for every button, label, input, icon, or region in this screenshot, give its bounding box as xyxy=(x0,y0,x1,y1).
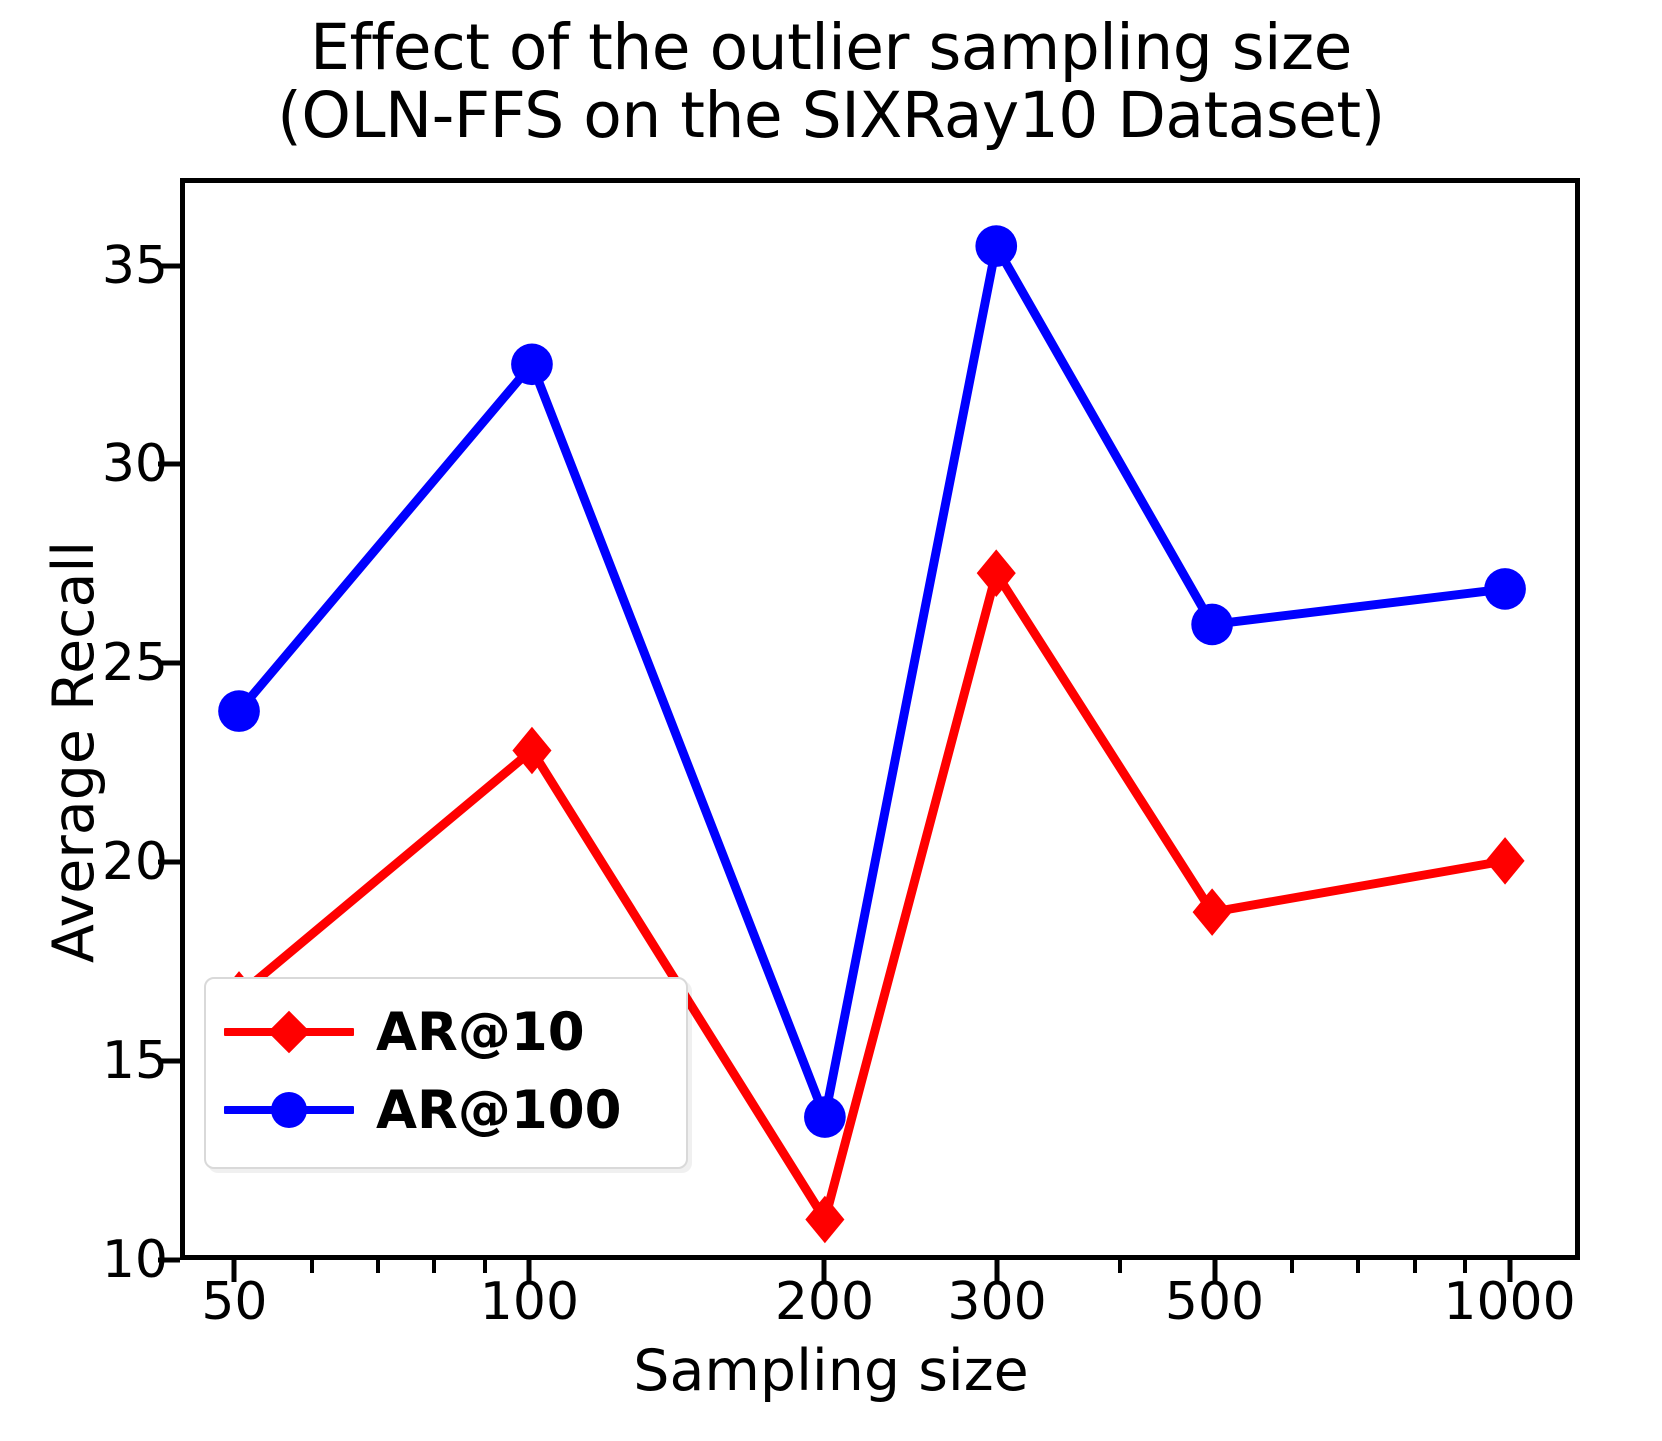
x-axis-minor-tick-mark xyxy=(376,1260,380,1273)
y-axis-tick-mark xyxy=(158,860,180,865)
y-axis-tick-mark xyxy=(158,462,180,467)
legend-item-ar100[interactable]: AR@100 xyxy=(224,1071,668,1149)
x-axis-minor-tick-mark xyxy=(310,1260,314,1273)
data-point-diamond xyxy=(1486,837,1525,885)
y-axis-tick-mark xyxy=(158,1258,180,1263)
y-axis-tick-mark xyxy=(158,661,180,666)
x-axis-tick-mark xyxy=(232,1260,237,1282)
data-point-circle xyxy=(1191,604,1233,646)
circle-marker-icon xyxy=(271,1092,307,1128)
x-axis-minor-tick-mark xyxy=(1463,1260,1467,1273)
data-point-circle xyxy=(975,225,1017,267)
chart-title: Effect of the outlier sampling size (OLN… xyxy=(0,14,1662,150)
legend[interactable]: AR@10 AR@100 xyxy=(204,977,688,1169)
x-axis-minor-tick-mark xyxy=(1356,1260,1360,1273)
legend-label-ar100: AR@100 xyxy=(376,1080,621,1141)
x-axis-tick-mark xyxy=(1212,1260,1217,1282)
legend-swatch-ar100 xyxy=(224,1090,354,1130)
x-axis-tick-mark xyxy=(822,1260,827,1282)
y-axis-tick-label: 10 xyxy=(8,1230,168,1290)
data-point-circle xyxy=(804,1096,846,1138)
diamond-marker-icon xyxy=(268,1011,310,1053)
chart-figure: Effect of the outlier sampling size (OLN… xyxy=(0,0,1662,1441)
data-point-circle xyxy=(1484,568,1526,610)
y-axis-tick-mark xyxy=(158,1059,180,1064)
x-axis-minor-tick-mark xyxy=(432,1260,436,1273)
legend-label-ar10: AR@10 xyxy=(376,1002,585,1063)
x-axis-tick-mark xyxy=(527,1260,532,1282)
legend-swatch-ar10 xyxy=(224,1012,354,1052)
x-axis-tick-mark xyxy=(995,1260,1000,1282)
y-axis-tick-label: 35 xyxy=(8,236,168,296)
data-point-circle xyxy=(218,690,260,732)
x-axis-label: Sampling size xyxy=(0,1338,1662,1404)
x-axis-minor-tick-mark xyxy=(1290,1260,1294,1273)
x-axis-tick-mark xyxy=(1507,1260,1512,1282)
x-axis-minor-tick-mark xyxy=(483,1260,487,1273)
legend-item-ar10[interactable]: AR@10 xyxy=(224,993,668,1071)
x-axis-minor-tick-mark xyxy=(1118,1260,1122,1273)
y-axis-tick-mark xyxy=(158,263,180,268)
x-axis-minor-tick-mark xyxy=(1413,1260,1417,1273)
data-point-circle xyxy=(511,343,553,385)
y-axis-label: Average Recall xyxy=(41,432,107,1072)
